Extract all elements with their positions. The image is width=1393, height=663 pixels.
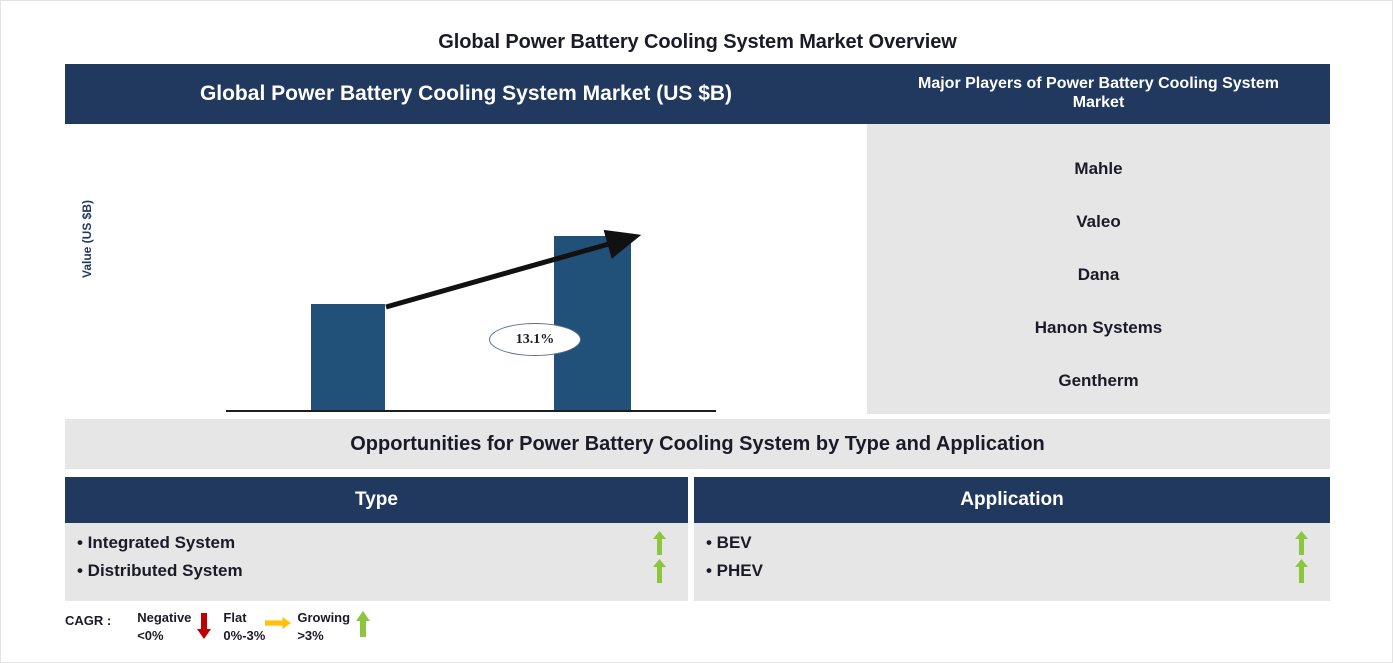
- table-row: • Distributed System: [65, 557, 688, 585]
- bar-2031: [554, 236, 631, 410]
- type-rows: • Integrated System • Distributed System: [65, 523, 688, 585]
- table-row: • Integrated System: [65, 529, 688, 557]
- cagr-legend-title: CAGR :: [65, 609, 111, 628]
- type-item-label: • Integrated System: [77, 533, 646, 553]
- list-item: Gentherm: [867, 354, 1330, 407]
- arrow-up-icon: [646, 559, 672, 583]
- table-row: • BEV: [694, 529, 1330, 557]
- bar-2025: [311, 304, 385, 410]
- type-item-label: • Distributed System: [77, 561, 646, 581]
- market-chart-header: Global Power Battery Cooling System Mark…: [65, 64, 867, 124]
- legend-negative-range: <0%: [137, 627, 191, 645]
- y-axis-label: Value (US $B): [80, 179, 94, 299]
- legend-item-negative: Negative <0%: [137, 609, 217, 644]
- arrow-up-icon: [1288, 559, 1314, 583]
- opportunities-application-table: Application • BEV • PHEV: [694, 477, 1330, 601]
- legend-item-growing: Growing >3%: [297, 609, 376, 644]
- legend-flat-name: Flat: [223, 609, 265, 627]
- major-players-panel: Major Players of Power Battery Cooling S…: [867, 64, 1330, 414]
- cagr-legend: CAGR : Negative <0% Flat 0%-3% Growing >…: [65, 609, 382, 644]
- list-item: Dana: [867, 248, 1330, 301]
- application-column-header: Application: [694, 477, 1330, 523]
- list-item: Valeo: [867, 195, 1330, 248]
- application-rows: • BEV • PHEV: [694, 523, 1330, 585]
- arrow-up-icon: [646, 531, 672, 555]
- x-axis-line: [226, 410, 716, 412]
- legend-negative-name: Negative: [137, 609, 191, 627]
- list-item: Mahle: [867, 142, 1330, 195]
- growth-arrow-icon: [225, 124, 725, 414]
- legend-growing-range: >3%: [297, 627, 350, 645]
- legend-flat-range: 0%-3%: [223, 627, 265, 645]
- application-item-label: • BEV: [706, 533, 1288, 553]
- market-chart-panel: Global Power Battery Cooling System Mark…: [65, 64, 867, 414]
- opportunities-banner: Opportunities for Power Battery Cooling …: [65, 419, 1330, 469]
- legend-item-flat: Flat 0%-3%: [223, 609, 291, 644]
- market-overview-infographic: Global Power Battery Cooling System Mark…: [0, 0, 1393, 663]
- page-title: Global Power Battery Cooling System Mark…: [1, 31, 1393, 54]
- opportunities-type-table: Type • Integrated System • Distributed S…: [65, 477, 688, 601]
- list-item: Hanon Systems: [867, 301, 1330, 354]
- arrow-down-icon: [191, 609, 217, 639]
- major-players-list: Mahle Valeo Dana Hanon Systems Gentherm: [867, 124, 1330, 414]
- arrow-right-icon: [265, 609, 291, 630]
- arrow-up-icon: [350, 609, 376, 639]
- application-item-label: • PHEV: [706, 561, 1288, 581]
- cagr-bubble: 13.1%: [489, 323, 581, 356]
- type-column-header: Type: [65, 477, 688, 523]
- table-row: • PHEV: [694, 557, 1330, 585]
- major-players-header: Major Players of Power Battery Cooling S…: [867, 64, 1330, 124]
- arrow-up-icon: [1288, 531, 1314, 555]
- market-chart-body: Value (US $B) 13.1% 2025 2031 Source : L…: [65, 124, 867, 414]
- legend-growing-name: Growing: [297, 609, 350, 627]
